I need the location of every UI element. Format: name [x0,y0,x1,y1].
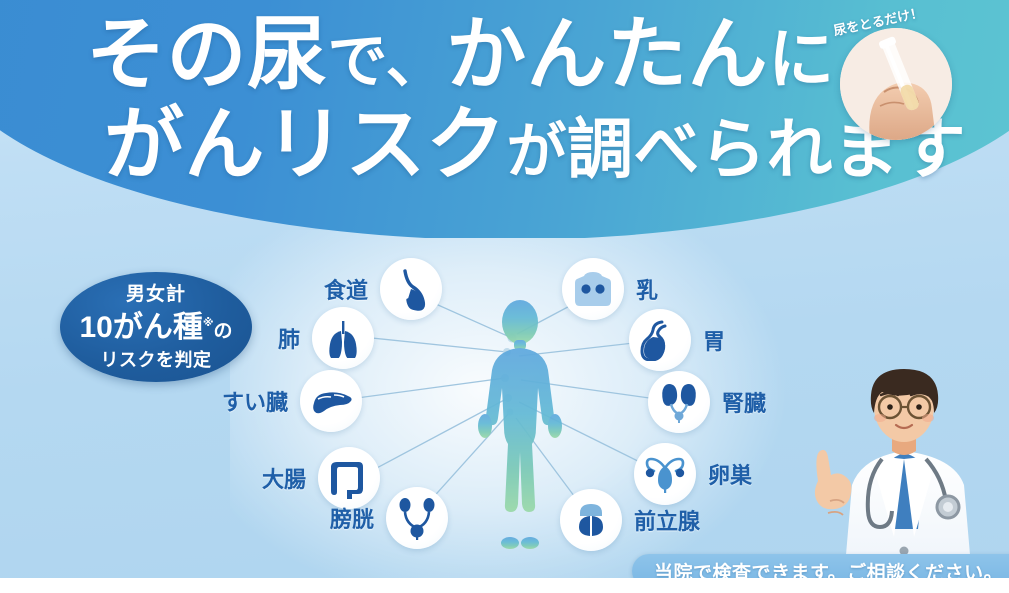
organ-node-pancreas[interactable]: すい臓 [222,370,362,432]
headline-l1-p3: かんたん [446,10,768,99]
organ-label-stomach: 胃 [703,324,725,356]
esophagus-icon [389,267,433,311]
lung-icon [323,318,363,358]
kidney-bubble [648,371,710,433]
badge-line-3: リスクを判定 [101,349,212,371]
lung-bubble [312,307,374,369]
urine-tube-photo-wrap: 尿をとるだけ！ [840,28,958,146]
headline-line-1: その尿で、かんたんに [0,14,940,103]
headline-l2-p1: がんリスク [104,100,507,189]
pancreas-icon [310,383,352,419]
organ-label-esophagus: 食道 [324,273,368,305]
poster-root: その尿で、かんたんに がんリスクが調べられます 尿をとるだけ！ [0,0,1009,593]
pancreas-bubble [300,370,362,432]
badge-suffix: の [214,321,233,342]
bottom-white-strip [0,578,1009,593]
bladder-bubble [386,487,448,549]
organ-label-bladder: 膀胱 [330,502,374,534]
ovary-icon [643,454,687,494]
bladder-icon [396,496,438,540]
organ-label-breast: 乳 [636,273,658,305]
headline: その尿で、かんたんに がんリスクが調べられます [0,14,940,194]
badge-unit: がん種 [113,311,203,344]
stomach-icon [640,319,680,361]
badge-number: 10 [79,311,112,344]
esophagus-bubble [380,258,442,320]
organ-label-colon: 大腸 [262,462,306,494]
organ-node-kidney[interactable]: 腎臓 [648,371,766,433]
organ-node-stomach[interactable]: 胃 [629,309,725,371]
headline-l1-p1: その尿 [86,10,328,99]
organ-node-prostate[interactable]: 前立腺 [560,489,700,551]
tube-in-hand-icon [840,28,952,140]
badge-line-1: 男女計 [126,284,186,306]
urine-tube-photo [840,28,952,140]
organ-label-prostate: 前立腺 [634,504,700,536]
organ-node-lung[interactable]: 肺 [278,307,374,369]
headline-l1-p4: に [768,22,835,96]
headline-l2-p2: が [507,118,568,185]
prostate-icon [571,500,611,540]
doctor-illustration [800,355,1009,578]
headline-line-2: がんリスクが調べられます [0,103,940,194]
headline-l1-p2: で、 [328,28,447,95]
kidney-icon [658,381,700,423]
organ-label-ovary: 卵巣 [708,458,752,490]
stomach-bubble [629,309,691,371]
organ-label-pancreas: すい臓 [222,385,288,417]
cancer-count-badge: 男女計 10がん種※の リスクを判定 [60,272,252,382]
organ-label-kidney: 腎臓 [722,386,766,418]
organ-label-lung: 肺 [278,322,300,354]
organ-node-bladder[interactable]: 膀胱 [330,487,448,549]
badge-asterisk: ※ [203,317,214,329]
badge-line-2: 10がん種※の [79,306,232,349]
doctor-figure-icon [800,355,1009,578]
breast-icon [572,268,614,310]
breast-bubble [562,258,624,320]
prostate-bubble [560,489,622,551]
